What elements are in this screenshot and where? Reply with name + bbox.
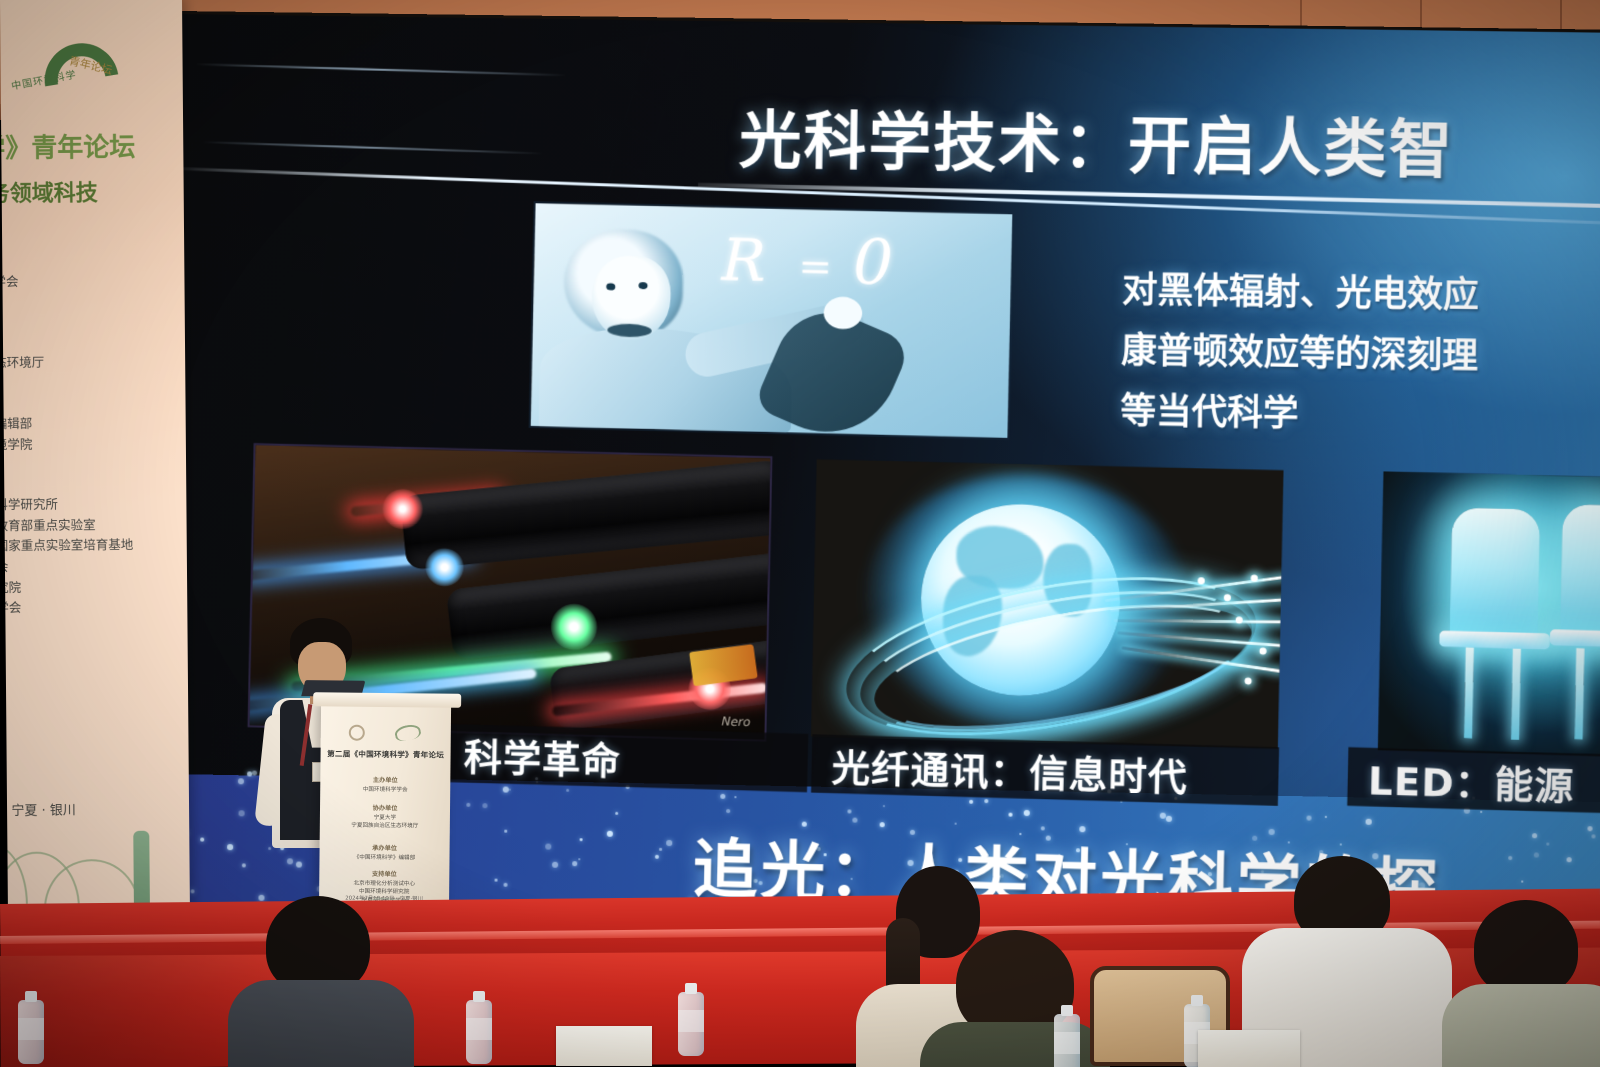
banner-organizer-list: 单位： 科学学会 单位： 大学 区生态环境厅 单位： 学》编辑部 态环境学院 位…	[0, 246, 191, 635]
slide-body-text: 对黑体辐射、光电效应 康普顿效应等的深刻理 等当代科学	[1120, 260, 1600, 453]
banner-group-item: 学研究院	[0, 576, 191, 599]
podium-block-item: 宁夏回族自治区生态环境厅	[320, 822, 450, 832]
water-bottle	[18, 1000, 44, 1064]
podium-block-label: 协办单位	[320, 802, 450, 812]
banner-group-title: 单位：	[0, 388, 191, 409]
photo-signature: Nero	[721, 714, 750, 729]
banner-group-title: 位：	[0, 469, 191, 490]
banner-heading: 科学》青年论坛	[0, 126, 183, 165]
banner-date-location: 9 日 宁夏 · 银川	[0, 799, 76, 819]
banner-group-title: 单位：	[0, 246, 191, 267]
body-line-3: 等当代科学	[1120, 382, 1600, 454]
water-bottle	[678, 992, 704, 1056]
caption-led-energy: LED：能源	[1347, 747, 1600, 815]
banner-group-item: 区生态环境厅	[0, 352, 191, 375]
banner-group-title: 单位：	[0, 307, 191, 328]
banner-group: 单位： 科学学会	[0, 246, 191, 293]
banner-group-item: 态学会	[0, 555, 191, 578]
audience-member	[218, 896, 418, 1067]
event-banner: 中国环境科学 青年论坛 科学》青年论坛 服务领域科技 单位： 科学学会 单位： …	[0, 0, 191, 1000]
podium-title: 第二届《中国环境科学》青年论坛	[321, 748, 451, 760]
podium-block-label: 支持单位	[319, 868, 449, 878]
slide-title: 光科学技术：开启人类智	[739, 90, 1455, 191]
banner-group-item: 重建教育部重点实验室	[0, 514, 191, 537]
podium-block: 承办单位 《中国环境科学》编辑部	[319, 842, 449, 863]
caption-science-revolution: ：科学革命	[404, 723, 808, 793]
forum-logo-icon: 中国环境科学 青年论坛	[10, 37, 121, 133]
banner-group: 单位： 大学 区生态环境厅	[0, 307, 191, 374]
place-name-card	[556, 1026, 652, 1066]
banner-group-item: 科学学会	[0, 270, 191, 293]
banner-group: 单位： 学》编辑部 态环境学院	[0, 388, 191, 455]
podium-block-item: 中国环境科学学会	[320, 785, 450, 795]
podium-block-label: 主办单位	[320, 774, 450, 784]
podium-block-label: 承办单位	[320, 842, 450, 852]
podium-block: 协办单位 宁夏大学 宁夏回族自治区生态环境厅	[320, 802, 450, 831]
body-line-1: 对黑体辐射、光电效应	[1122, 260, 1600, 331]
banner-subheading: 服务领域科技	[0, 174, 191, 208]
place-name-card	[1198, 1030, 1300, 1067]
fiber-optic-globe-photo	[811, 459, 1283, 749]
banner-group-item: 科学学会	[0, 597, 191, 620]
water-bottle	[1054, 1014, 1080, 1067]
chalk-symbol-equals: =	[798, 244, 833, 291]
banner-group-item: 大学	[0, 331, 191, 354]
chalk-symbol-zero: 0	[852, 225, 894, 299]
banner-group-item: 学》编辑部	[0, 412, 191, 435]
podium-lectern: 第二届《中国环境科学》青年论坛 主办单位 中国环境科学学会 协办单位 宁夏大学 …	[319, 702, 451, 918]
audience-member	[1448, 900, 1600, 1067]
led-lights-photo	[1378, 471, 1600, 757]
podium-block-item: 《中国环境科学》编辑部	[319, 853, 449, 863]
water-bottle	[466, 1000, 492, 1064]
conference-photo-scene: 光科学技术：开启人类智 R = 0 对黑体辐射、光电效应 康普顿效应等的深刻理 …	[0, 0, 1600, 1067]
podium-logo-icon	[349, 725, 423, 742]
chalk-symbol-r: R	[721, 226, 767, 295]
podium-block: 主办单位 中国环境科学学会	[320, 774, 450, 795]
einstein-blackboard-photo: R = 0	[531, 203, 1013, 438]
banner-group-item: 态环境学院	[0, 433, 191, 456]
banner-group: 位： 环境科学研究所 重建教育部重点实验室 共建国家重点实验室培育基地 态学会 …	[0, 469, 191, 619]
banner-group-item: 共建国家重点实验室培育基地	[0, 535, 191, 558]
banner-group-item: 环境科学研究所	[0, 493, 191, 516]
